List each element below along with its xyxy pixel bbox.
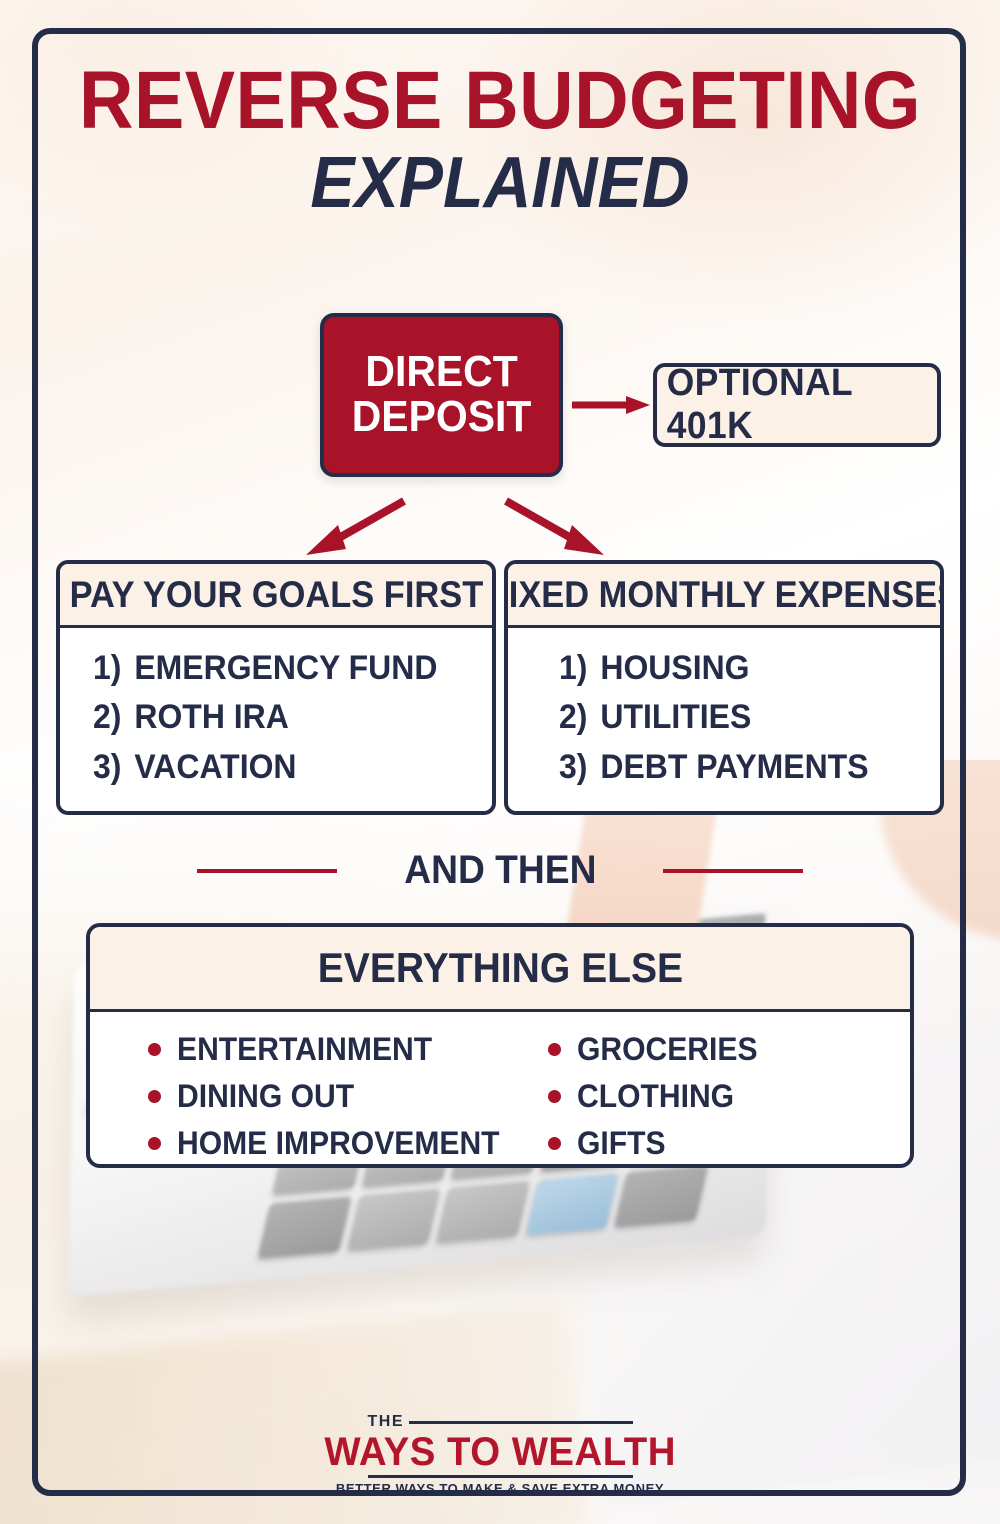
list-item: GROCERIES bbox=[548, 1026, 910, 1073]
list-item-number: 2) bbox=[559, 693, 600, 742]
everything-else-list-left: ENTERTAINMENT DINING OUT HOME IMPROVEMEN… bbox=[148, 1026, 520, 1167]
list-item-label: ENTERTAINMENT bbox=[177, 1026, 432, 1073]
list-item: GIFTS bbox=[548, 1120, 910, 1167]
bullet-icon bbox=[548, 1090, 561, 1103]
list-item-label: GIFTS bbox=[577, 1120, 666, 1167]
logo-rule-top bbox=[409, 1421, 633, 1424]
optional-401k-box: OPTIONAL 401K bbox=[653, 363, 941, 447]
pay-your-goals-first-box: PAY YOUR GOALS FIRST 1)EMERGENCY FUND 2)… bbox=[56, 560, 496, 815]
arrow-right-icon bbox=[572, 396, 650, 414]
list-item-number: 1) bbox=[559, 644, 600, 693]
bullet-icon bbox=[548, 1137, 561, 1150]
and-then-label: AND THEN bbox=[404, 848, 596, 893]
list-item-label: EMERGENCY FUND bbox=[134, 649, 437, 687]
list-item: CLOTHING bbox=[548, 1073, 910, 1120]
direct-deposit-label-line1: DIRECT bbox=[352, 350, 532, 395]
fixed-monthly-expenses-header: FIXED MONTHLY EXPENSES bbox=[508, 564, 940, 628]
arrow-down-right-icon bbox=[500, 495, 610, 557]
list-item: 2)ROTH IRA bbox=[93, 693, 437, 742]
everything-else-body: ENTERTAINMENT DINING OUT HOME IMPROVEMEN… bbox=[90, 1012, 910, 1167]
list-item: ENTERTAINMENT bbox=[148, 1026, 520, 1073]
pay-your-goals-first-header: PAY YOUR GOALS FIRST bbox=[60, 564, 492, 628]
brand-logo[interactable]: THE WAYS TO WEALTH BETTER WAYS TO MAKE &… bbox=[0, 1413, 1000, 1496]
arrow-down-left-icon bbox=[300, 495, 410, 557]
list-item-label: CLOTHING bbox=[577, 1073, 734, 1120]
title-line-secondary: EXPLAINED bbox=[40, 147, 960, 219]
everything-else-box: EVERYTHING ELSE ENTERTAINMENT DINING OUT bbox=[86, 923, 914, 1168]
page-title: REVERSE BUDGETING EXPLAINED bbox=[0, 62, 1000, 219]
list-item: 2)UTILITIES bbox=[559, 693, 869, 742]
list-item-label: HOUSING bbox=[601, 649, 750, 687]
and-then-divider: AND THEN bbox=[0, 848, 1000, 893]
infographic-canvas: REVERSE BUDGETING EXPLAINED DIRECT DEPOS… bbox=[0, 0, 1000, 1524]
direct-deposit-label-line2: DEPOSIT bbox=[352, 395, 532, 440]
bullet-icon bbox=[548, 1043, 561, 1056]
list-item-number: 1) bbox=[93, 644, 134, 693]
fixed-monthly-expenses-title: FIXED MONTHLY EXPENSES bbox=[504, 574, 944, 616]
everything-else-column-right: GROCERIES CLOTHING GIFTS bbox=[520, 1026, 910, 1167]
logo-the-label: THE bbox=[368, 1413, 405, 1431]
divider-rule-right bbox=[663, 869, 803, 873]
logo-name: WAYS TO WEALTH bbox=[324, 1431, 676, 1473]
list-item: 1)HOUSING bbox=[559, 644, 869, 693]
logo-tagline: BETTER WAYS TO MAKE & SAVE EXTRA MONEY bbox=[336, 1481, 664, 1496]
title-line-primary: REVERSE BUDGETING bbox=[40, 62, 960, 141]
everything-else-column-left: ENTERTAINMENT DINING OUT HOME IMPROVEMEN… bbox=[90, 1026, 520, 1167]
list-item: HOME IMPROVEMENT bbox=[148, 1120, 520, 1167]
list-item: DINING OUT bbox=[148, 1073, 520, 1120]
logo-rule-bottom bbox=[368, 1475, 633, 1478]
everything-else-header: EVERYTHING ELSE bbox=[90, 927, 910, 1012]
everything-else-list-right: GROCERIES CLOTHING GIFTS bbox=[548, 1026, 910, 1167]
list-item: 3)DEBT PAYMENTS bbox=[559, 743, 869, 792]
pay-your-goals-first-title: PAY YOUR GOALS FIRST bbox=[69, 574, 483, 616]
direct-deposit-label: DIRECT DEPOSIT bbox=[352, 350, 532, 440]
list-item-label: DINING OUT bbox=[177, 1073, 354, 1120]
list-item-label: GROCERIES bbox=[577, 1026, 758, 1073]
list-item-label: UTILITIES bbox=[601, 698, 752, 736]
list-item: 1)EMERGENCY FUND bbox=[93, 644, 437, 693]
list-item-label: HOME IMPROVEMENT bbox=[177, 1120, 500, 1167]
list-item-label: ROTH IRA bbox=[134, 698, 288, 736]
fixed-monthly-expenses-box: FIXED MONTHLY EXPENSES 1)HOUSING 2)UTILI… bbox=[504, 560, 944, 815]
logo-top-row: THE bbox=[368, 1413, 633, 1431]
expenses-list: 1)HOUSING 2)UTILITIES 3)DEBT PAYMENTS bbox=[559, 644, 888, 792]
list-item-label: DEBT PAYMENTS bbox=[601, 748, 869, 786]
list-item-number: 2) bbox=[93, 693, 134, 742]
bullet-icon bbox=[148, 1043, 161, 1056]
direct-deposit-box: DIRECT DEPOSIT bbox=[320, 313, 563, 477]
everything-else-title: EVERYTHING ELSE bbox=[317, 944, 682, 992]
bullet-icon bbox=[148, 1137, 161, 1150]
bullet-icon bbox=[148, 1090, 161, 1103]
optional-401k-label: OPTIONAL 401K bbox=[667, 362, 927, 448]
fixed-monthly-expenses-body: 1)HOUSING 2)UTILITIES 3)DEBT PAYMENTS bbox=[508, 628, 940, 792]
list-item: 3)VACATION bbox=[93, 743, 437, 792]
list-item-number: 3) bbox=[93, 743, 134, 792]
pay-your-goals-first-body: 1)EMERGENCY FUND 2)ROTH IRA 3)VACATION bbox=[60, 628, 492, 792]
divider-rule-left bbox=[197, 869, 337, 873]
goals-list: 1)EMERGENCY FUND 2)ROTH IRA 3)VACATION bbox=[93, 644, 459, 792]
list-item-number: 3) bbox=[559, 743, 600, 792]
list-item-label: VACATION bbox=[134, 748, 296, 786]
